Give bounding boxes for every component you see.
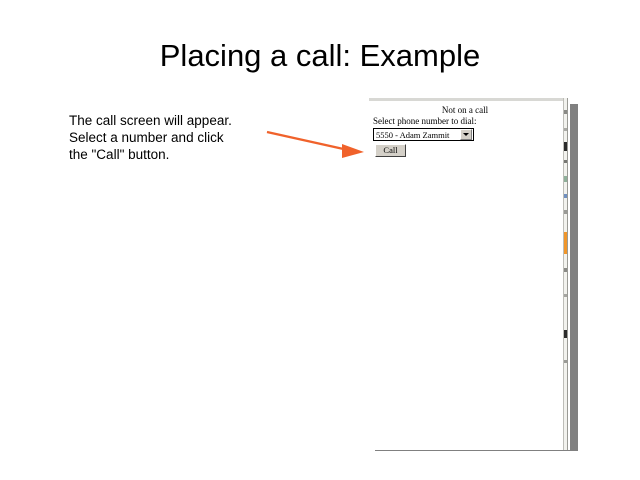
panel-left-edge xyxy=(369,98,370,450)
call-screen-screenshot: Not on a call Select phone number to dia… xyxy=(369,98,570,450)
page-title: Placing a call: Example xyxy=(0,38,640,74)
body-line-1: The call screen will appear. xyxy=(69,112,269,129)
call-button[interactable]: Call xyxy=(375,144,406,157)
phone-number-select-value: 5550 - Adam Zammit xyxy=(374,130,460,140)
scrollbar-sliver[interactable] xyxy=(563,98,568,450)
arrow-icon xyxy=(262,124,368,162)
body-line-2: Select a number and click xyxy=(69,129,269,146)
callout-arrow xyxy=(262,124,368,162)
body-line-3: the "Call" button. xyxy=(69,146,269,163)
panel-top-rule xyxy=(369,98,566,101)
panel-drop-shadow-right xyxy=(570,104,578,451)
phone-number-select[interactable]: 5550 - Adam Zammit xyxy=(373,128,474,141)
dial-number-label: Select phone number to dial: xyxy=(373,116,476,126)
call-status-text: Not on a call xyxy=(369,105,561,115)
chevron-down-icon[interactable] xyxy=(460,129,472,140)
slide-body-text: The call screen will appear. Select a nu… xyxy=(69,112,269,163)
